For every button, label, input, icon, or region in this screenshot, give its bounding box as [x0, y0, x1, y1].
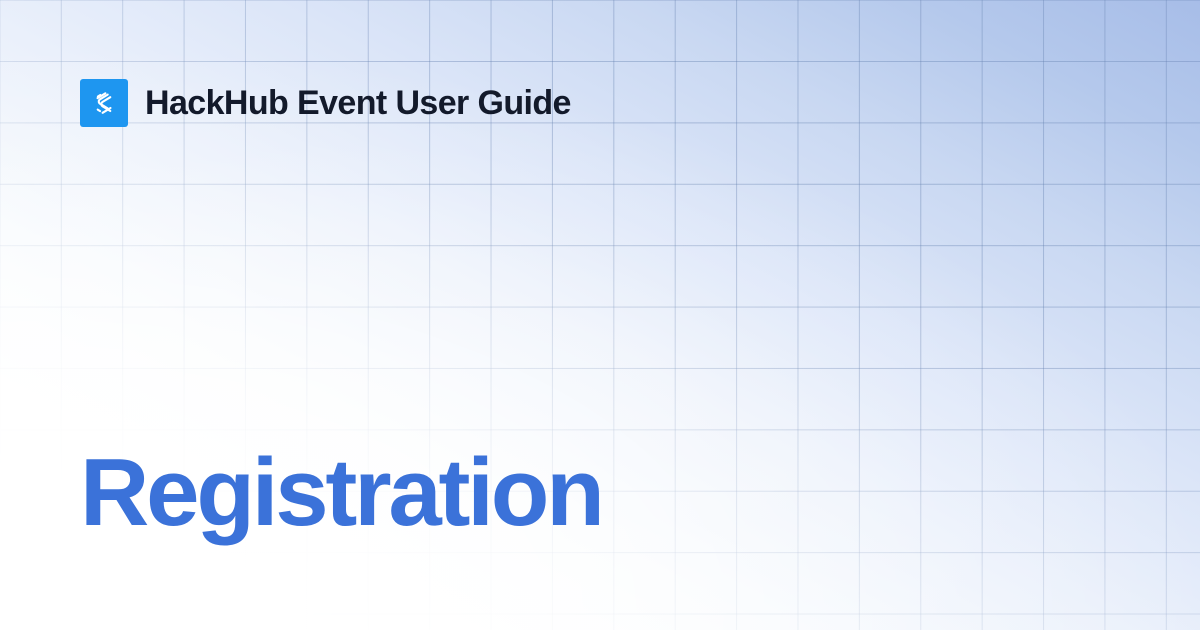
layered-stack-icon [80, 79, 128, 127]
brand-header: HackHub Event User Guide [80, 79, 571, 127]
cover-content: HackHub Event User Guide Registration [0, 0, 1200, 630]
cover-page: HackHub Event User Guide Registration [0, 0, 1200, 630]
brand-title: HackHub Event User Guide [145, 86, 571, 120]
page-title: Registration [80, 438, 602, 548]
